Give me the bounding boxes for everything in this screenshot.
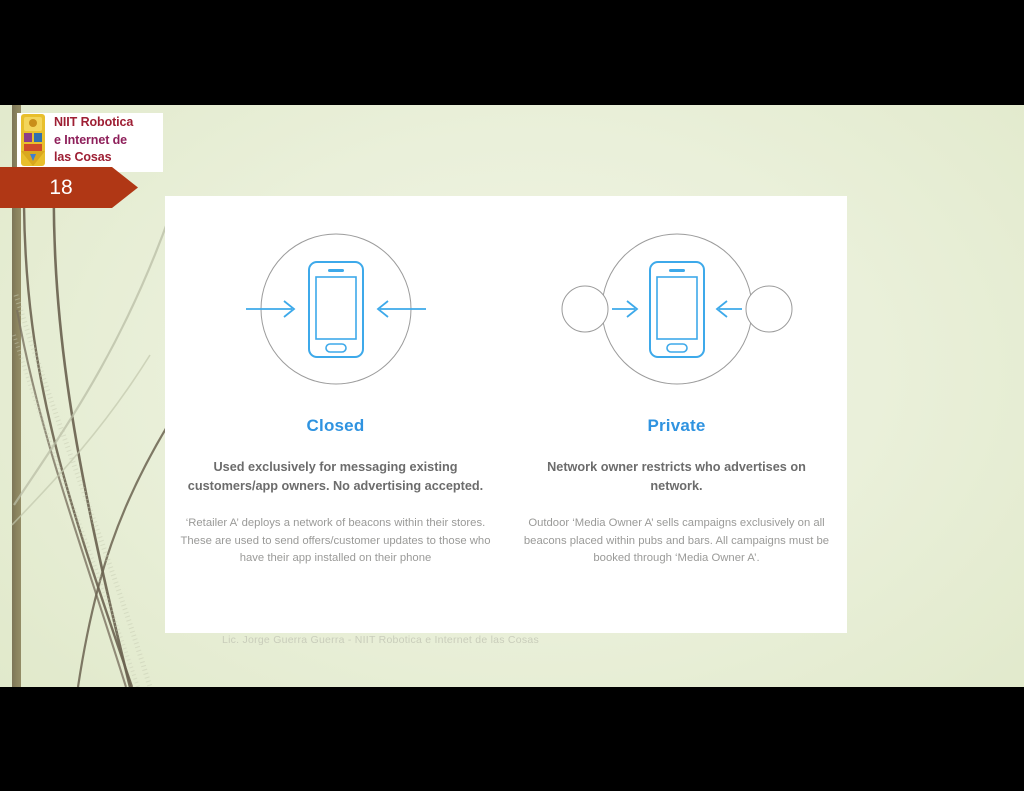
logo-text-block: NIIT Robotica e Internet de las Cosas <box>54 114 133 167</box>
column-title-closed: Closed <box>307 416 365 436</box>
closed-network-diagram <box>236 214 436 404</box>
slide-viewer: NIIT Robotica e Internet de las Cosas 18 <box>0 0 1024 791</box>
private-network-diagram <box>557 214 797 404</box>
closed-network-svg <box>236 219 436 399</box>
footer-note: Lic. Jorge Guerra Guerra - NIIT Robotica… <box>222 634 539 646</box>
page-number-banner: 18 <box>0 167 138 208</box>
logo-line-3: las Cosas <box>54 149 133 167</box>
page-number: 18 <box>49 177 72 198</box>
university-crest-icon <box>18 113 48 169</box>
column-detail-private: Outdoor ‘Media Owner A’ sells campaigns … <box>521 515 833 568</box>
course-logo: NIIT Robotica e Internet de las Cosas <box>17 113 163 172</box>
column-summary-closed: Used exclusively for messaging existing … <box>186 458 486 496</box>
slide-canvas: NIIT Robotica e Internet de las Cosas 18 <box>0 105 1024 687</box>
column-private: Private Network owner restricts who adve… <box>506 196 847 633</box>
private-network-svg <box>557 219 797 399</box>
column-closed: Closed Used exclusively for messaging ex… <box>165 196 506 633</box>
column-summary-private: Network owner restricts who advertises o… <box>527 458 827 496</box>
logo-line-1: NIIT Robotica <box>54 114 133 132</box>
column-title-private: Private <box>647 416 705 436</box>
logo-line-2: e Internet de <box>54 132 133 150</box>
content-panel: Closed Used exclusively for messaging ex… <box>165 196 847 633</box>
column-detail-closed: ‘Retailer A’ deploys a network of beacon… <box>180 515 492 568</box>
